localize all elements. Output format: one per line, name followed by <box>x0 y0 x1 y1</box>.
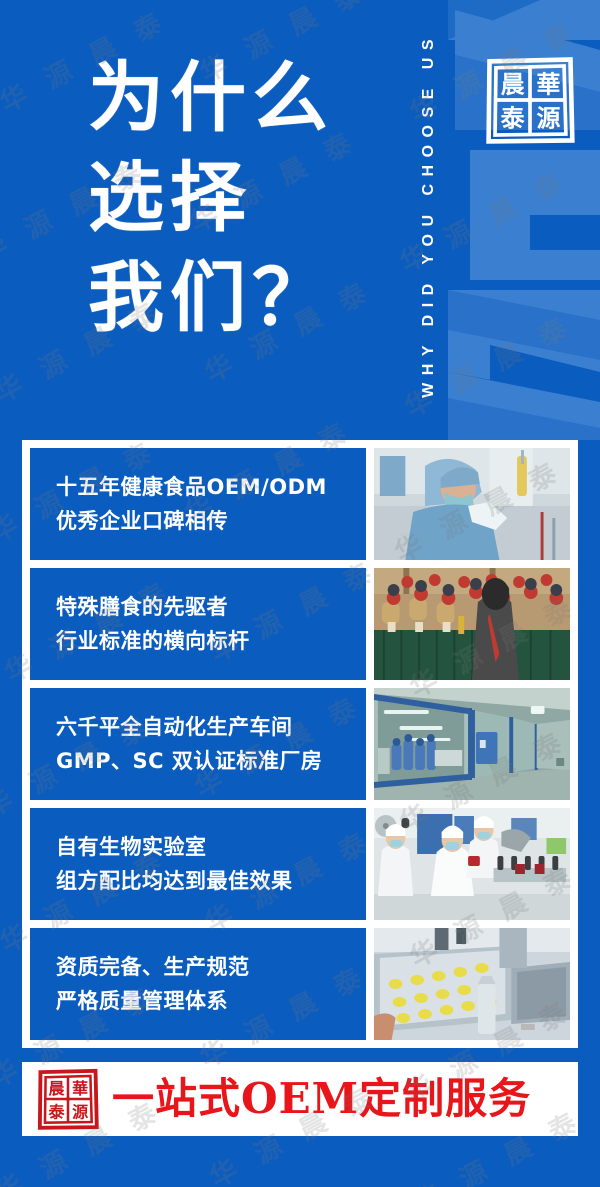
seal-char-4: 源 <box>536 105 560 133</box>
feature-line-1: 六千平全自动化生产车间 <box>56 710 366 744</box>
seal-char-1: 晨 <box>501 71 526 99</box>
poster-root: 为什么 选择 我们？ WHY DID YOU CHOOSE US 晨 華 <box>0 0 600 1187</box>
vertical-tagline: WHY DID YOU CHOOSE US <box>412 18 446 398</box>
feature-card-text: 特殊膳食的先驱者 行业标准的横向标杆 <box>30 568 366 680</box>
company-seal-logo-icon: 晨 華 泰 源 <box>484 54 576 146</box>
header-section: 为什么 选择 我们？ WHY DID YOU CHOOSE US 晨 華 <box>0 0 600 440</box>
banner-seal-char-4: 源 <box>72 1103 88 1122</box>
feature-card-text: 十五年健康食品OEM/ODM 优秀企业口碑相传 <box>30 448 366 560</box>
feature-card[interactable]: 资质完备、生产规范 严格质量管理体系 <box>30 928 570 1040</box>
feature-card[interactable]: 特殊膳食的先驱者 行业标准的横向标杆 <box>30 568 570 680</box>
bottom-banner: 晨 華 泰 源 一站式OEM定制服务 <box>22 1062 578 1136</box>
banner-seal-char-3: 泰 <box>47 1103 65 1122</box>
feature-line-1: 资质完备、生产规范 <box>56 950 366 984</box>
feature-line-2: GMP、SC 双认证标准厂房 <box>56 744 366 778</box>
feature-line-2: 组方配比均达到最佳效果 <box>56 864 366 898</box>
banner-seal-char-2: 華 <box>72 1079 88 1098</box>
banner-slogan: 一站式OEM定制服务 <box>112 1076 531 1122</box>
company-seal-logo-red-icon: 晨 華 泰 源 <box>36 1067 100 1131</box>
feature-line-2: 行业标准的横向标杆 <box>56 624 366 658</box>
feature-card[interactable]: 六千平全自动化生产车间 GMP、SC 双认证标准厂房 <box>30 688 570 800</box>
vertical-tagline-text: WHY DID YOU CHOOSE US <box>420 32 438 398</box>
title-line-1: 为什么 <box>88 48 388 148</box>
feature-card[interactable]: 十五年健康食品OEM/ODM 优秀企业口碑相传 <box>30 448 570 560</box>
white-coat-workers-production-line-photo <box>374 808 570 920</box>
feature-card-list: 十五年健康食品OEM/ODM 优秀企业口碑相传 <box>22 440 578 1048</box>
feature-line-1: 十五年健康食品OEM/ODM <box>56 470 366 504</box>
title-line-2: 选择 <box>88 148 388 248</box>
page-title: 为什么 选择 我们？ <box>88 48 388 348</box>
feature-line-2: 优秀企业口碑相传 <box>56 504 366 538</box>
conference-audience-red-scarves-photo <box>374 568 570 680</box>
feature-card[interactable]: 自有生物实验室 组方配比均达到最佳效果 <box>30 808 570 920</box>
banner-seal-char-1: 晨 <box>48 1079 65 1098</box>
feature-line-1: 特殊膳食的先驱者 <box>56 590 366 624</box>
feature-line-1: 自有生物实验室 <box>56 830 366 864</box>
feature-line-2: 严格质量管理体系 <box>56 984 366 1018</box>
lab-technician-blue-scrubs-photo <box>374 448 570 560</box>
seal-char-3: 泰 <box>501 105 526 133</box>
blister-pack-yellow-capsules-photo <box>374 928 570 1040</box>
cleanroom-corridor-glass-photo <box>374 688 570 800</box>
feature-card-text: 资质完备、生产规范 严格质量管理体系 <box>30 928 366 1040</box>
feature-card-text: 六千平全自动化生产车间 GMP、SC 双认证标准厂房 <box>30 688 366 800</box>
feature-card-text: 自有生物实验室 组方配比均达到最佳效果 <box>30 808 366 920</box>
title-line-3: 我们？ <box>88 248 388 348</box>
seal-char-2: 華 <box>536 71 560 99</box>
